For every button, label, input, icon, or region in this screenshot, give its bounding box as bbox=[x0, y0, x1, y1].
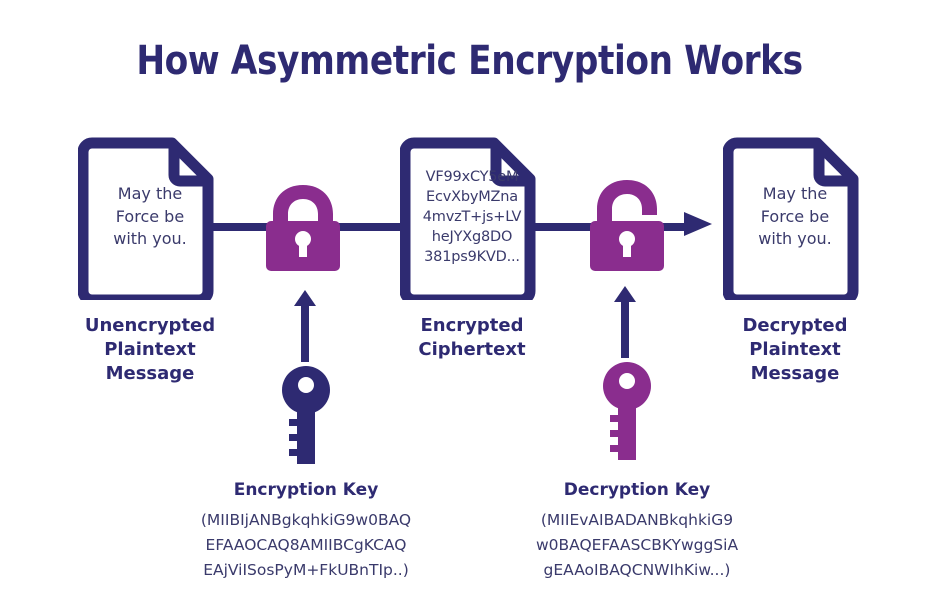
decryption-key-value: (MIIEvAIBADANBkqhkiG9 w0BAQEFAASCBKYwggS… bbox=[487, 508, 787, 583]
padlock-closed-icon bbox=[262, 181, 344, 273]
document-ciphertext: VF99xCY5eM EcvXbyMZna 4mvzT+js+LV heJYXg… bbox=[400, 134, 544, 300]
document-ciphertext-text: VF99xCY5eM EcvXbyMZna 4mvzT+js+LV heJYXg… bbox=[400, 134, 544, 300]
caption-encrypted-ciphertext: Encrypted Ciphertext bbox=[362, 314, 582, 362]
encryption-key-value: (MIIBIjANBgkqhkiG9w0BAQ EFAAOCAQ8AMIIBCg… bbox=[156, 508, 456, 583]
document-plaintext-in-text: May the Force be with you. bbox=[78, 134, 222, 300]
document-plaintext-out-text: May the Force be with you. bbox=[723, 134, 867, 300]
padlock-open-icon bbox=[583, 176, 673, 273]
encryption-key-icon bbox=[281, 366, 331, 464]
decryption-key-title: Decryption Key bbox=[487, 480, 787, 500]
encryption-key-title: Encryption Key bbox=[156, 480, 456, 500]
key-arrow-decrypt bbox=[612, 286, 638, 358]
document-plaintext-out: May the Force be with you. bbox=[723, 134, 867, 300]
caption-decrypted-plaintext: Decrypted Plaintext Message bbox=[685, 314, 905, 385]
key-arrow-encrypt bbox=[292, 290, 318, 362]
page-title: How Asymmetric Encryption Works bbox=[66, 38, 874, 84]
document-plaintext-in: May the Force be with you. bbox=[78, 134, 222, 300]
diagram-canvas: How Asymmetric Encryption Works May the … bbox=[0, 0, 939, 602]
flow-arrow-2-head bbox=[684, 209, 718, 239]
decryption-key-icon bbox=[602, 362, 652, 460]
caption-unencrypted-plaintext: Unencrypted Plaintext Message bbox=[40, 314, 260, 385]
